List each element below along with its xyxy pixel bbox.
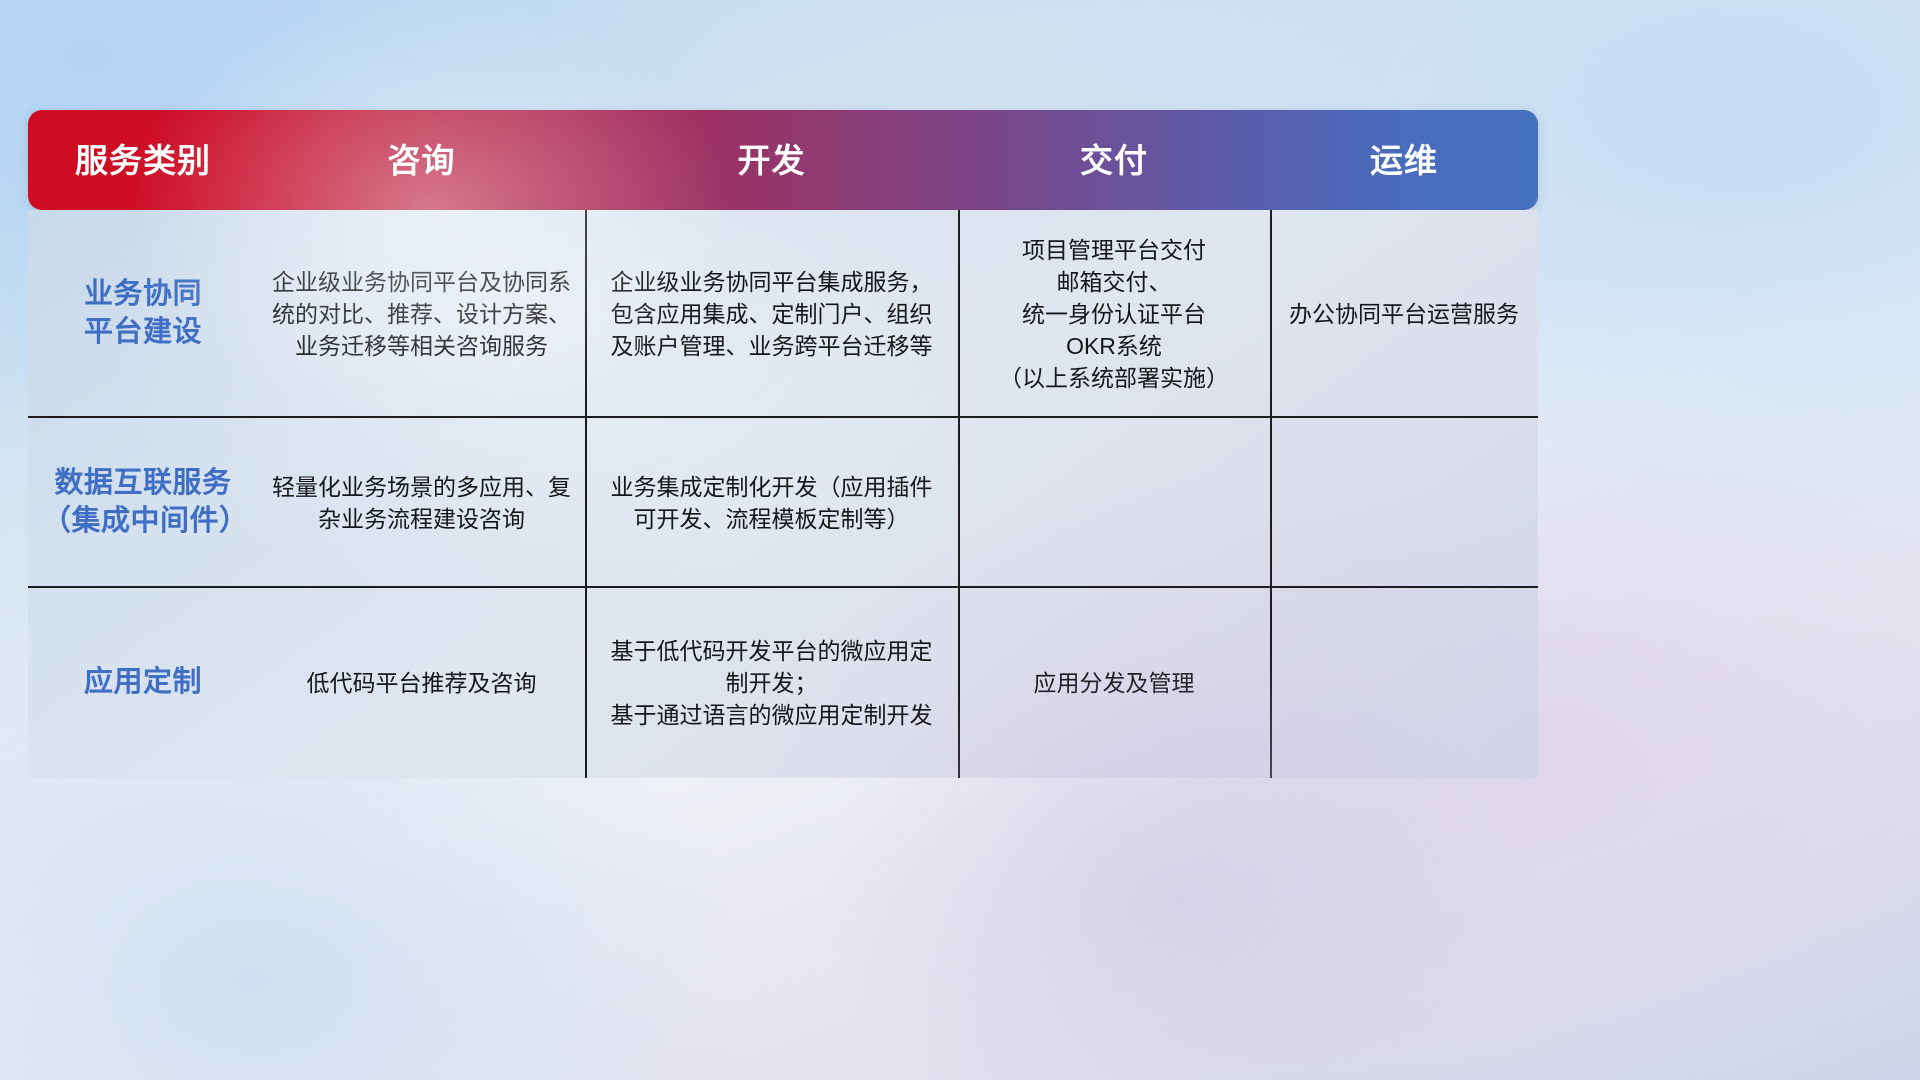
cell-delivery — [958, 499, 1270, 507]
column-header-development: 开发 — [585, 144, 958, 177]
table-row: 业务协同 平台建设 企业级业务协同平台及协同系 统的对比、推荐、设计方案、 业务… — [28, 210, 1538, 418]
table-body: 业务协同 平台建设 企业级业务协同平台及协同系 统的对比、推荐、设计方案、 业务… — [28, 210, 1538, 778]
table-header-row: 服务类别 咨询 开发 交付 运维 — [28, 110, 1538, 210]
column-header-delivery: 交付 — [958, 144, 1270, 177]
table-row: 应用定制 低代码平台推荐及咨询 基于低代码开发平台的微应用定 制开发； 基于通过… — [28, 588, 1538, 778]
table-row: 数据互联服务 （集成中间件） 轻量化业务场景的多应用、复 杂业务流程建设咨询 业… — [28, 418, 1538, 588]
row-category-label: 业务协同 平台建设 — [28, 272, 258, 355]
row-category-label: 应用定制 — [28, 660, 258, 706]
cell-operations — [1270, 499, 1538, 507]
service-matrix-table: 服务类别 咨询 开发 交付 运维 业务协同 平台建设 企业级业务协同平台及协同系… — [28, 110, 1538, 778]
slide-canvas: 服务类别 咨询 开发 交付 运维 业务协同 平台建设 企业级业务协同平台及协同系… — [0, 0, 1920, 1080]
column-header-service-category: 服务类别 — [28, 144, 258, 177]
cell-consulting: 低代码平台推荐及咨询 — [258, 663, 585, 703]
cell-delivery: 应用分发及管理 — [958, 663, 1270, 703]
row-category-label: 数据互联服务 （集成中间件） — [28, 461, 258, 544]
cell-consulting: 企业级业务协同平台及协同系 统的对比、推荐、设计方案、 业务迁移等相关咨询服务 — [258, 262, 585, 367]
cell-development: 企业级业务协同平台集成服务， 包含应用集成、定制门户、组织 及账户管理、业务跨平… — [585, 262, 958, 367]
cell-delivery: 项目管理平台交付 邮箱交付、 统一身份认证平台 OKR系统 （以上系统部署实施） — [958, 230, 1270, 399]
column-header-consulting: 咨询 — [258, 144, 585, 177]
column-header-operations: 运维 — [1270, 144, 1538, 177]
cell-consulting: 轻量化业务场景的多应用、复 杂业务流程建设咨询 — [258, 467, 585, 539]
cell-operations: 办公协同平台运营服务 — [1270, 294, 1538, 334]
cell-development: 业务集成定制化开发（应用插件 可开发、流程模板定制等） — [585, 467, 958, 539]
cell-development: 基于低代码开发平台的微应用定 制开发； 基于通过语言的微应用定制开发 — [585, 631, 958, 736]
cell-operations — [1270, 679, 1538, 687]
